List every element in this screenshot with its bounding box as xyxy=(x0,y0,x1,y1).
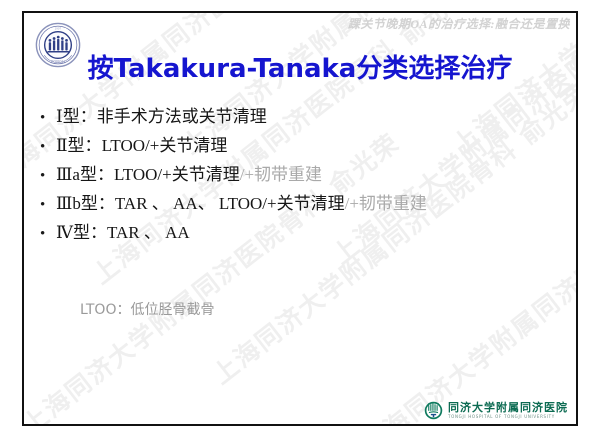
list-item-main: LTOO/+关节清理 xyxy=(114,165,240,184)
list-item-text: Ⅲa型：LTOO/+关节清理/+韧带重建 xyxy=(56,166,322,183)
hospital-name-block: 同济大学附属同济医院 TONGJI HOSPITAL OF TONGJI UNI… xyxy=(448,402,568,419)
ltoo-footnote: LTOO：低位胫骨截骨 xyxy=(80,299,214,319)
list-item: • Ⅲa型：LTOO/+关节清理/+韧带重建 xyxy=(40,166,572,195)
list-item-text: Ⅲb型：TAR 、 AA、 LTOO/+关节清理/+韧带重建 xyxy=(56,195,427,212)
bullet-dot-icon: • xyxy=(40,111,56,126)
list-item-faint: /+韧带重建 xyxy=(345,194,427,213)
list-item: • Ⅳ型：TAR 、 AA xyxy=(40,224,572,253)
list-item-label: Ⅱ型： xyxy=(56,136,102,155)
list-item-main: LTOO/+关节清理 xyxy=(102,136,228,155)
list-item-label: Ⅲa型： xyxy=(56,165,114,184)
bullet-dot-icon: • xyxy=(40,140,56,155)
hospital-name-en: TONGJI HOSPITAL OF TONGJI UNIVERSITY xyxy=(448,415,568,419)
slide-root: 上海同济大学附属同济医院骨科 俞光荣 上海同济大学附属同济医院骨科 俞光荣 上海… xyxy=(0,0,600,438)
hospital-name-cn: 同济大学附属同济医院 xyxy=(448,402,568,413)
list-item-text: Ⅰ型：非手术方法或关节清理 xyxy=(56,108,267,125)
slide-frame: 上海同济大学附属同济医院骨科 俞光荣 上海同济大学附属同济医院骨科 俞光荣 上海… xyxy=(22,11,578,426)
bullet-dot-icon: • xyxy=(40,169,56,184)
list-item-main: 非手术方法或关节清理 xyxy=(97,107,267,126)
bullet-dot-icon: • xyxy=(40,198,56,213)
list-item-label: Ⅲb型： xyxy=(56,194,115,213)
bullet-list: • Ⅰ型：非手术方法或关节清理 • Ⅱ型：LTOO/+关节清理 • Ⅲa型：LT… xyxy=(40,108,572,253)
list-item: • Ⅱ型：LTOO/+关节清理 xyxy=(40,137,572,166)
tongji-hospital-emblem-icon xyxy=(424,401,443,420)
list-item-text: Ⅳ型：TAR 、 AA xyxy=(56,224,190,241)
bullet-dot-icon: • xyxy=(40,227,56,242)
list-item: • Ⅲb型：TAR 、 AA、 LTOO/+关节清理/+韧带重建 xyxy=(40,195,572,224)
list-item-text: Ⅱ型：LTOO/+关节清理 xyxy=(56,137,227,154)
list-item-main: TAR 、 AA xyxy=(107,223,190,242)
header-note: 踝关节晚期OA的治疗选择:融合还是置换 xyxy=(348,15,570,32)
svg-text:1907: 1907 xyxy=(55,27,62,30)
list-item: • Ⅰ型：非手术方法或关节清理 xyxy=(40,108,572,137)
hospital-logo: 同济大学附属同济医院 TONGJI HOSPITAL OF TONGJI UNI… xyxy=(424,401,568,420)
list-item-faint: /+韧带重建 xyxy=(240,165,322,184)
list-item-label: Ⅰ型： xyxy=(56,107,97,126)
list-item-label: Ⅳ型： xyxy=(56,223,107,242)
list-item-main: TAR 、 AA、 LTOO/+关节清理 xyxy=(115,194,345,213)
page-title: 按Takakura-Tanaka分类选择治疗 xyxy=(24,48,576,85)
